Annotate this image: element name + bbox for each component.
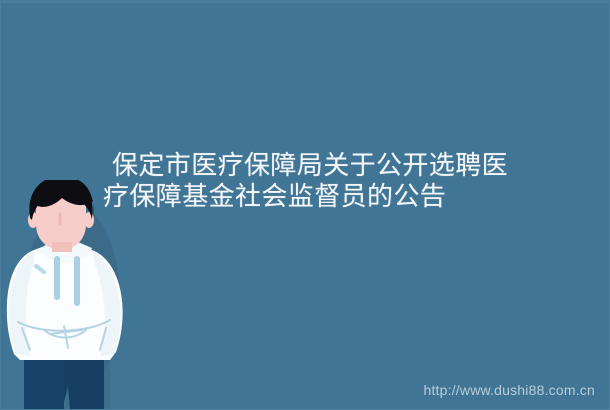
person-illustration <box>0 180 150 410</box>
source-url-watermark: http://www.dushi88.com.cn <box>423 382 595 398</box>
title-line-1: 保定市医疗保障局关于公开选聘医 <box>103 150 523 181</box>
title-line-2: 疗保障基金社会监督员的公告 <box>103 181 523 212</box>
article-cover-banner: 保定市医疗保障局关于公开选聘医 疗保障基金社会监督员的公告 http://www… <box>0 0 610 410</box>
page-title: 保定市医疗保障局关于公开选聘医 疗保障基金社会监督员的公告 <box>103 150 523 212</box>
